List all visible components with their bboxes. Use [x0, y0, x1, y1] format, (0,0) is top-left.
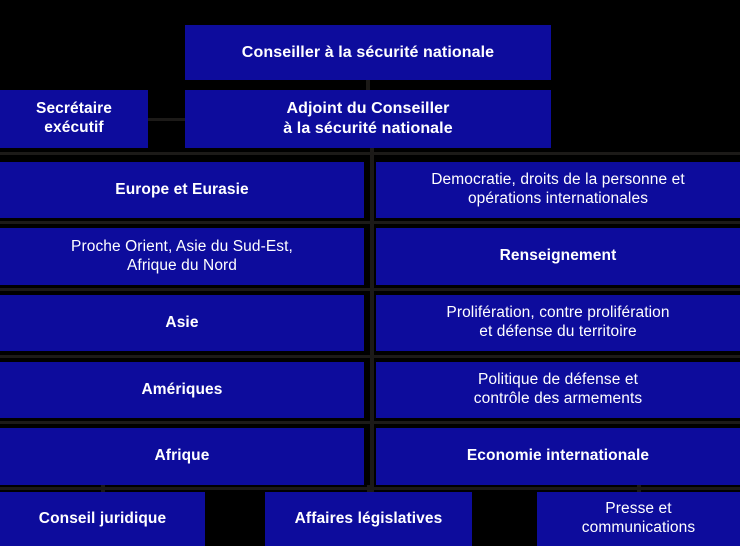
- connector-row-3: [0, 288, 740, 291]
- connector-secretaire-branch: [148, 118, 186, 121]
- node-politique-defense-controle-armements[interactable]: Politique de défense et contrôle des arm…: [376, 362, 740, 418]
- node-conseil-juridique[interactable]: Conseil juridique: [0, 492, 205, 546]
- node-affaires-legislatives[interactable]: Affaires législatives: [265, 492, 472, 546]
- connector-row-1: [0, 152, 740, 155]
- connector-row-5: [0, 421, 740, 424]
- node-democratie-droits-personne[interactable]: Democratie, droits de la personne et opé…: [376, 162, 740, 218]
- node-asie[interactable]: Asie: [0, 295, 364, 351]
- node-economie-internationale[interactable]: Economie internationale: [376, 428, 740, 485]
- node-presse-et-communications[interactable]: Presse et communications: [537, 492, 740, 546]
- connector-row-4: [0, 355, 740, 358]
- node-renseignement[interactable]: Renseignement: [376, 228, 740, 285]
- node-conseiller-securite-nationale[interactable]: Conseiller à la sécurité nationale: [185, 25, 551, 80]
- connector-spine-main: [370, 148, 374, 494]
- node-ameriques[interactable]: Amériques: [0, 362, 364, 418]
- org-chart: Conseiller à la sécurité nationale Secré…: [0, 0, 740, 546]
- node-adjoint-conseiller[interactable]: Adjoint du Conseiller à la sécurité nati…: [185, 90, 551, 148]
- node-proche-orient-asie-sud-est[interactable]: Proche Orient, Asie du Sud-Est, Afrique …: [0, 228, 364, 285]
- connector-row-2: [0, 221, 740, 224]
- node-secretaire-executif[interactable]: Secrétaire exécutif: [0, 90, 148, 148]
- node-afrique[interactable]: Afrique: [0, 428, 364, 485]
- node-europe-et-eurasie[interactable]: Europe et Eurasie: [0, 162, 364, 218]
- node-proliferation-contre-proliferation[interactable]: Prolifération, contre prolifération et d…: [376, 295, 740, 351]
